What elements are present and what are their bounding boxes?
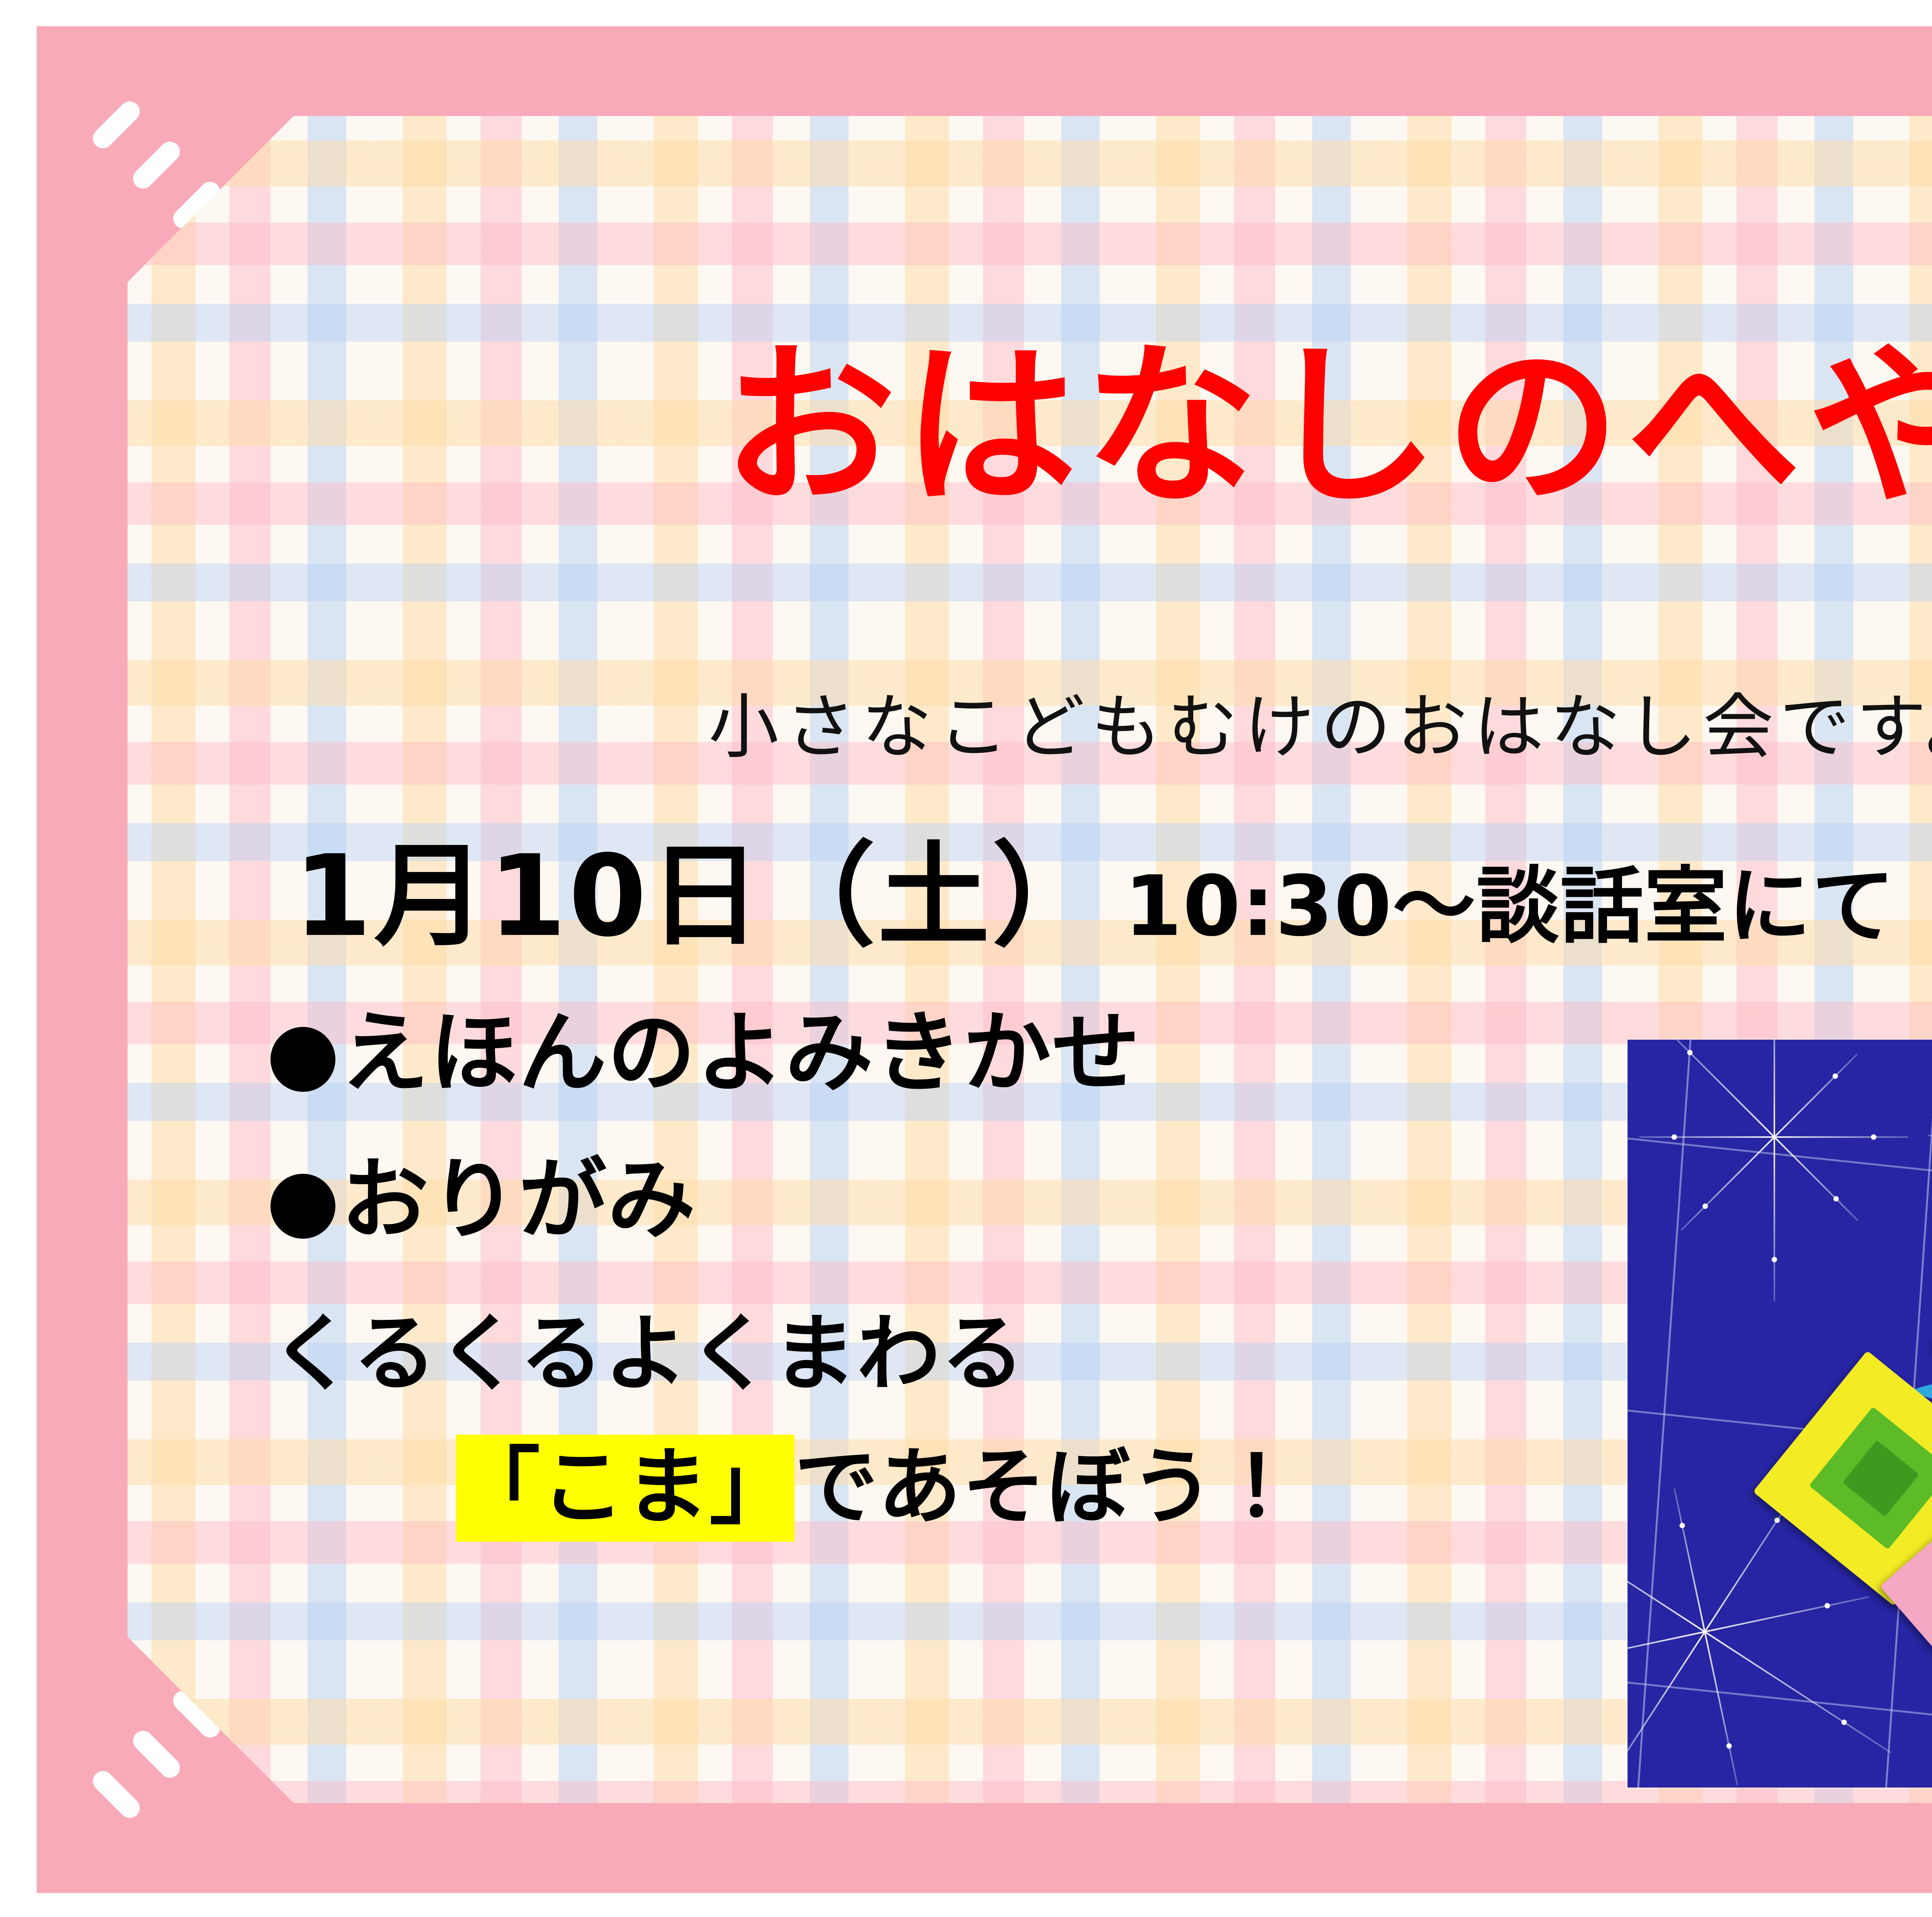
event-date: 1月10日（土） [294, 831, 1106, 962]
subtitle: 小さなこどもむけのおはなし会です。 [0, 692, 1932, 762]
spin-description-line: くるくるよくまわる [270, 1312, 1025, 1396]
list-item-label: えほんのよみきかせ [341, 1001, 1141, 1104]
bullet-dot-icon [270, 1174, 335, 1239]
list-item: おりがみ [270, 1156, 1141, 1244]
play-invitation-line: 「こま」であそぼう！ [456, 1445, 1299, 1529]
poster-root: おはなしのへや 小さなこどもむけのおはなし会です。 1月10日（土）10:30〜… [0, 0, 1932, 1917]
poster-content: おはなしのへや 小さなこどもむけのおはなし会です。 1月10日（土）10:30〜… [0, 0, 1932, 1917]
bullet-dot-icon [270, 1027, 335, 1092]
page-title: おはなしのへや [0, 340, 1932, 514]
play-invitation-rest: であそぼう！ [794, 1439, 1299, 1536]
event-datetime-line: 1月10日（土）10:30〜談話室にて [294, 841, 1896, 953]
program-list: えほんのよみきかせ おりがみ [270, 1009, 1141, 1302]
list-item-label: おりがみ [341, 1148, 696, 1251]
event-time-place: 10:30〜談話室にて [1124, 858, 1895, 955]
origami-photo [1628, 1040, 1932, 1788]
koma-highlight: 「こま」 [456, 1435, 794, 1542]
list-item: えほんのよみきかせ [270, 1009, 1141, 1097]
yellow-green-top [1781, 1379, 1932, 1578]
